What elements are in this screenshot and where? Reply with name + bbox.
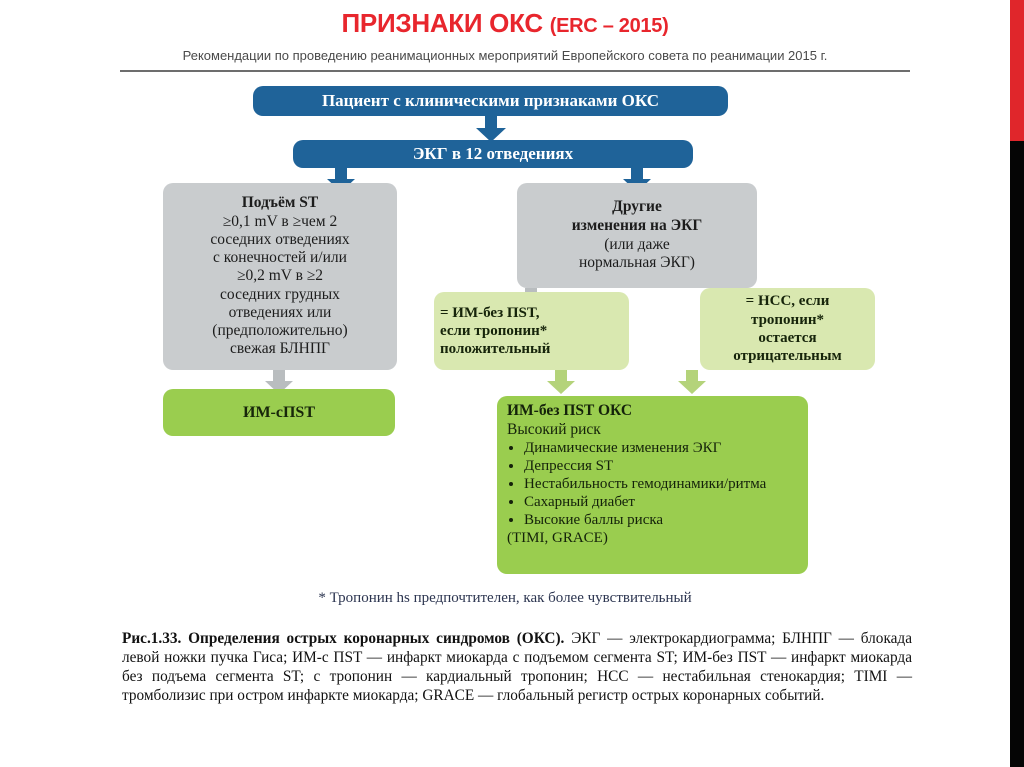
- unstable-angina-line1: = НСС, если: [746, 292, 830, 310]
- arrow-patient-to-ecg: [476, 116, 506, 142]
- slide-canvas: ПРИЗНАКИ ОКС (ERC – 2015) Рекомендации п…: [0, 0, 1010, 767]
- right-edge-black-bar: [1010, 141, 1024, 767]
- risk-bullet-item: Высокие баллы риска: [524, 511, 798, 529]
- st-elevation-line-5: соседних грудных: [220, 286, 340, 304]
- flow-node-unstable-angina: = НСС, если тропонин* остается отрицател…: [700, 288, 875, 370]
- other-changes-sub-line2: нормальная ЭКГ): [579, 254, 695, 273]
- arrow-nstemi-positive-to-risk: [547, 370, 575, 394]
- header-divider: [120, 70, 910, 72]
- risk-box-heading: ИМ-без ПST ОКС: [507, 402, 798, 421]
- other-changes-heading-line1: Другие: [612, 198, 662, 217]
- arrow-unstable-angina-to-risk: [678, 370, 706, 394]
- flow-node-st-elevation: Подъём ST ≥0,1 mV в ≥чем 2 соседних отве…: [163, 183, 397, 370]
- page-subtitle: Рекомендации по проведению реанимационны…: [0, 48, 1010, 63]
- other-changes-heading-line2: изменения на ЭКГ: [572, 217, 702, 236]
- st-elevation-heading: Подъём ST: [242, 194, 319, 212]
- flow-node-patient-label: Пациент с клиническими признаками ОКС: [322, 91, 659, 111]
- st-elevation-line-6: отведениях или: [229, 304, 332, 322]
- nstemi-positive-line3: положительный: [440, 340, 550, 358]
- st-elevation-line-7: (предположительно): [212, 322, 347, 340]
- figure-caption: Рис.1.33. Определения острых коронарных …: [122, 630, 912, 706]
- risk-box-bullet-list: Динамические изменения ЭКГ Депрессия ST …: [507, 439, 798, 529]
- flow-node-patient: Пациент с клиническими признаками ОКС: [253, 86, 728, 116]
- risk-bullet-item: Сахарный диабет: [524, 493, 798, 511]
- risk-bullet-item: Динамические изменения ЭКГ: [524, 439, 798, 457]
- right-edge-gap: [986, 0, 996, 767]
- risk-bullet-item: Депрессия ST: [524, 457, 798, 475]
- st-elevation-line-3: с конечностей и/или: [213, 249, 347, 267]
- st-elevation-line-1: ≥0,1 mV в ≥чем 2: [223, 213, 337, 231]
- title-erc-text: (ERC – 2015): [550, 15, 669, 37]
- unstable-angina-line3: остается: [758, 329, 816, 347]
- st-elevation-line-2: соседних отведениях: [210, 231, 349, 249]
- flow-node-other-changes: Другие изменения на ЭКГ (или даже нормал…: [517, 183, 757, 288]
- right-edge-red-bar: [1010, 0, 1024, 141]
- flow-node-ecg: ЭКГ в 12 отведениях: [293, 140, 693, 168]
- other-changes-sub-line1: (или даже: [604, 236, 670, 255]
- flow-node-ecg-label: ЭКГ в 12 отведениях: [413, 144, 573, 164]
- nstemi-positive-line2: если тропонин*: [440, 322, 547, 340]
- st-elevation-line-8: свежая БЛНПГ: [230, 340, 330, 358]
- flow-node-nstemi-positive: = ИМ-без ПST, если тропонин* положительн…: [434, 292, 629, 370]
- risk-box-tail: (TIMI, GRACE): [507, 529, 798, 547]
- risk-bullet-item: Нестабильность гемодинамики/ритма: [524, 475, 798, 493]
- nstemi-positive-line1: = ИМ-без ПST,: [440, 304, 540, 322]
- title-main-text: ПРИЗНАКИ ОКС: [342, 8, 543, 38]
- figure-caption-title: Рис.1.33. Определения острых коронарных …: [122, 630, 564, 647]
- flow-node-stemi-label: ИМ-сПST: [243, 404, 315, 422]
- unstable-angina-line2: тропонин*: [751, 311, 824, 329]
- page-title: ПРИЗНАКИ ОКС (ERC – 2015): [0, 8, 1010, 39]
- troponin-footnote: * Тропонин hs предпочтителен, как более …: [0, 590, 1010, 607]
- unstable-angina-line4: отрицательным: [733, 347, 842, 365]
- flow-node-nstemi-acs-risk: ИМ-без ПST ОКС Высокий риск Динамические…: [497, 396, 808, 574]
- risk-box-subheading: Высокий риск: [507, 421, 798, 440]
- st-elevation-line-4: ≥0,2 mV в ≥2: [237, 267, 323, 285]
- flow-node-stemi: ИМ-сПST: [163, 389, 395, 436]
